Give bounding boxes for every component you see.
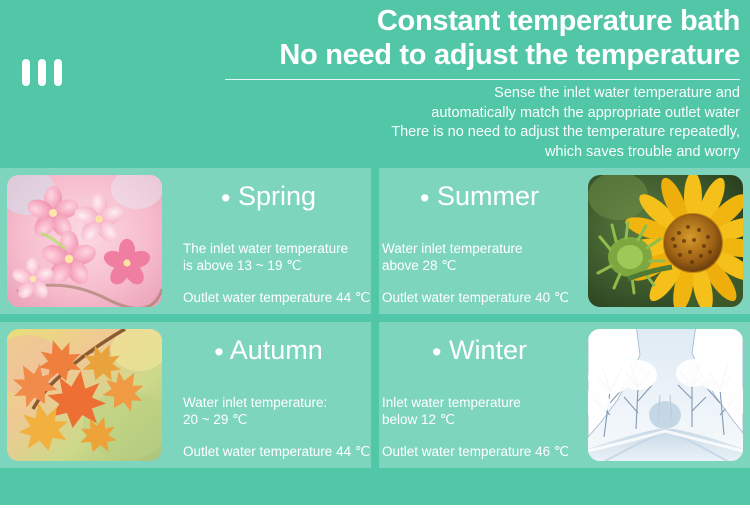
- bullet-icon: •: [432, 337, 441, 367]
- outlet-temperature-text: Outlet water temperature 40 ℃: [382, 289, 569, 306]
- season-name: Autumn: [230, 335, 323, 365]
- outlet-temperature-text: Outlet water temperature 44 ℃: [183, 443, 370, 460]
- inlet-temperature-text: Water inlet temperature above 28 ℃: [382, 240, 569, 274]
- season-title-winter: • Winter: [382, 334, 569, 368]
- season-card-autumn: • Autumn Water inlet temperature: 20 ~ 2…: [0, 322, 371, 468]
- season-card-body: • Spring The inlet water temperature is …: [169, 168, 382, 314]
- maple-leaves-photo: [7, 329, 162, 461]
- bullet-icon: •: [221, 183, 230, 213]
- season-card-body: • Summer Water inlet temperature above 2…: [372, 168, 581, 314]
- inlet-temperature-text: Inlet water temperature below 12 ℃: [382, 394, 569, 428]
- subtitle-line-1: Sense the inlet water temperature and: [220, 84, 740, 104]
- subtitle-line-3: There is no need to adjust the temperatu…: [220, 123, 740, 143]
- outlet-temperature-text: Outlet water temperature 46 ℃: [382, 443, 569, 460]
- inlet-temperature-text: Water inlet temperature: 20 ~ 29 ℃: [183, 394, 370, 428]
- bullet-icon: •: [214, 337, 223, 367]
- sunflower-photo: [588, 175, 743, 307]
- decorative-bar-icon: [38, 59, 46, 86]
- season-name: Summer: [437, 181, 539, 211]
- page-title-line-2: No need to adjust the temperature: [220, 38, 740, 72]
- season-name: Spring: [238, 181, 316, 211]
- season-title-summer: • Summer: [382, 180, 569, 214]
- cherry-blossom-photo: [7, 175, 162, 307]
- decorative-bar-icon: [22, 59, 30, 86]
- season-card-body: • Winter Inlet water temperature below 1…: [372, 322, 581, 468]
- page-title-line-1: Constant temperature bath: [220, 4, 740, 38]
- poster-header: Constant temperature bath No need to adj…: [220, 4, 740, 162]
- season-name: Winter: [449, 335, 527, 365]
- inlet-temperature-text: The inlet water temperature is above 13 …: [183, 240, 370, 274]
- snowy-trees-photo: [588, 329, 743, 461]
- season-card-spring: • Spring The inlet water temperature is …: [0, 168, 371, 314]
- season-card-grid: • Spring The inlet water temperature is …: [0, 168, 750, 472]
- subtitle-line-4: which saves trouble and worry: [220, 143, 740, 163]
- promotional-poster: Constant temperature bath No need to adj…: [0, 0, 750, 505]
- season-card-body: • Autumn Water inlet temperature: 20 ~ 2…: [169, 322, 382, 468]
- season-card-summer: • Summer Water inlet temperature above 2…: [379, 168, 750, 314]
- season-card-winter: • Winter Inlet water temperature below 1…: [379, 322, 750, 468]
- bullet-icon: •: [420, 183, 429, 213]
- season-title-spring: • Spring: [183, 180, 370, 214]
- decorative-bar-icon: [54, 59, 62, 86]
- season-title-autumn: • Autumn: [183, 334, 370, 368]
- outlet-temperature-text: Outlet water temperature 44 ℃: [183, 289, 370, 306]
- title-divider: [225, 79, 740, 80]
- decorative-bars: [22, 59, 62, 86]
- subtitle-line-2: automatically match the appropriate outl…: [220, 104, 740, 124]
